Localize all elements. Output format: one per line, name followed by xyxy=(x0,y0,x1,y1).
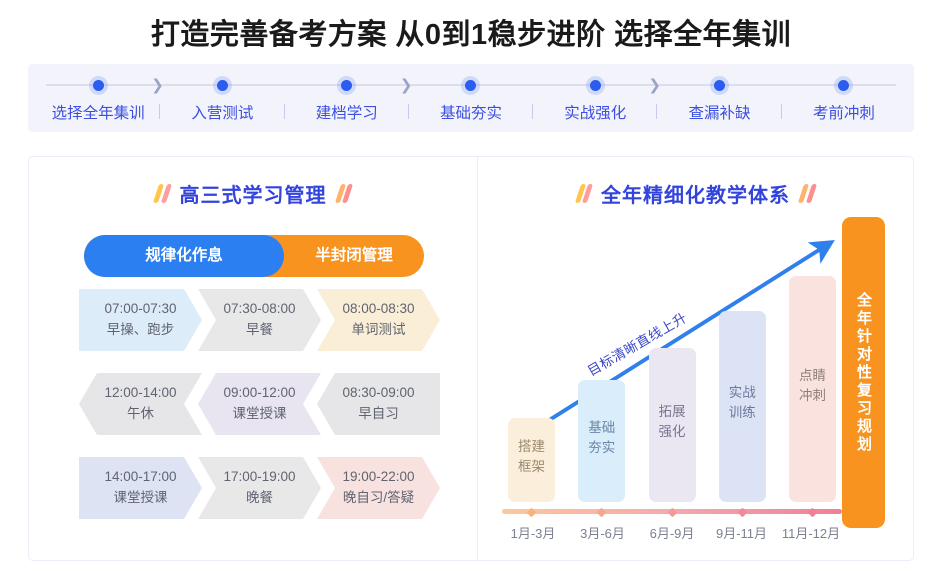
diamond-icon xyxy=(597,508,607,518)
toggle-option-active[interactable]: 规律化作息 xyxy=(84,235,284,277)
schedule-cell: 09:00-12:00课堂授课 xyxy=(198,373,321,435)
chart-bar: 点睛冲刺 xyxy=(789,276,836,502)
page-title-bar: 打造完善备考方案 从0到1稳步进阶 选择全年集训 xyxy=(0,0,942,64)
diamond-icon xyxy=(667,508,677,518)
chart-bars: 搭建框架基础夯实拓展强化实战训练点睛冲刺 xyxy=(508,264,836,502)
stepper-track: ❯❯❯ xyxy=(36,75,906,95)
schedule-cell-time: 07:30-08:00 xyxy=(223,299,295,320)
mode-toggle[interactable]: 规律化作息 半封闭管理 xyxy=(84,235,424,277)
timeline-labels: 1月-3月3月-6月6月-9月9月-11月11月-12月 xyxy=(502,523,842,542)
stepper-dot-6[interactable] xyxy=(657,80,781,91)
schedule-cell-time: 12:00-14:00 xyxy=(104,383,176,404)
left-panel-title-row: 高三式学习管理 xyxy=(29,157,477,208)
schedule-cell-activity: 课堂授课 xyxy=(114,488,168,509)
content-panels: 高三式学习管理 规律化作息 半封闭管理 07:00-07:30早操、跑步07:3… xyxy=(28,156,914,561)
schedule-cell-activity: 午休 xyxy=(127,404,154,425)
schedule-cell-time: 08:00-08:30 xyxy=(342,299,414,320)
schedule-cell: 07:30-08:00早餐 xyxy=(198,289,321,351)
schedule-cell: 19:00-22:00晚自习/答疑 xyxy=(317,457,440,519)
schedule-row: 14:00-17:00课堂授课17:00-19:00晚餐19:00-22:00晚… xyxy=(79,457,437,519)
schedule-cell-time: 14:00-17:00 xyxy=(104,467,176,488)
stepper-dots-row: ❯❯❯ xyxy=(36,75,906,95)
schedule-cell: 08:00-08:30单词测试 xyxy=(317,289,440,351)
chevron-right-icon: ❯ xyxy=(151,78,164,93)
stepper-labels-row: 选择全年集训入营测试建档学习基础夯实实战强化查漏补缺考前冲刺 xyxy=(36,101,906,123)
year-plan-sidebar-label: 全年针对性复习规划 xyxy=(853,292,874,454)
timeline-label: 11月-12月 xyxy=(780,523,842,542)
schedule-cell-time: 17:00-19:00 xyxy=(223,467,295,488)
stepper-dot-5[interactable]: ❯ xyxy=(533,80,657,91)
timeline-marker xyxy=(649,509,696,516)
diamond-icon xyxy=(808,508,818,518)
schedule-cell-time: 08:30-09:00 xyxy=(342,383,414,404)
stepper-label-6[interactable]: 查漏补缺 xyxy=(657,101,781,123)
chart-bar-label: 实战训练 xyxy=(729,383,756,424)
chart-bar-label: 点睛冲刺 xyxy=(799,366,826,407)
timeline-markers xyxy=(508,509,836,516)
stepper-label-1[interactable]: 选择全年集训 xyxy=(36,101,160,123)
schedule-cell: 17:00-19:00晚餐 xyxy=(198,457,321,519)
decor-slashes-right-icon xyxy=(338,184,351,203)
chevron-right-icon: ❯ xyxy=(400,78,413,93)
chart-bar-label: 搭建框架 xyxy=(518,437,545,478)
timeline-marker xyxy=(789,509,836,516)
schedule-cell: 08:30-09:00早自习 xyxy=(317,373,440,435)
right-panel-title-row: 全年精细化教学体系 xyxy=(478,157,913,208)
stepper-dot-icon xyxy=(714,80,725,91)
growth-chart: 目标清晰直线上升 搭建框架基础夯实拓展强化实战训练点睛冲刺 1月-3月3月-6月… xyxy=(478,215,913,560)
chart-bar-label: 基础夯实 xyxy=(588,418,615,459)
schedule-cell-activity: 早餐 xyxy=(246,320,273,341)
stepper-dot-icon xyxy=(341,80,352,91)
timeline-marker xyxy=(719,509,766,516)
promo-page: 打造完善备考方案 从0到1稳步进阶 选择全年集训 ❯❯❯ 选择全年集训入营测试建… xyxy=(0,0,942,571)
schedule-cell-time: 19:00-22:00 xyxy=(342,467,414,488)
timeline-marker xyxy=(578,509,625,516)
schedule-cell-activity: 单词测试 xyxy=(352,320,406,341)
stepper-dot-icon xyxy=(465,80,476,91)
stepper-label-3[interactable]: 建档学习 xyxy=(285,101,409,123)
schedule-cell-activity: 晚餐 xyxy=(246,488,273,509)
stepper-label-7[interactable]: 考前冲刺 xyxy=(782,101,906,123)
stepper-dot-icon xyxy=(838,80,849,91)
schedule-cell: 12:00-14:00午休 xyxy=(79,373,202,435)
schedule-cell-activity: 早操、跑步 xyxy=(107,320,175,341)
stepper-label-2[interactable]: 入营测试 xyxy=(160,101,284,123)
schedule-cell-time: 09:00-12:00 xyxy=(223,383,295,404)
timeline-label: 1月-3月 xyxy=(502,523,564,542)
chart-bar: 搭建框架 xyxy=(508,418,555,502)
stepper-dot-7[interactable] xyxy=(782,80,906,91)
chart-bar-label: 拓展强化 xyxy=(659,402,686,443)
chart-bar: 拓展强化 xyxy=(649,348,696,502)
stepper-dot-2[interactable] xyxy=(160,80,284,91)
schedule-cell: 07:00-07:30早操、跑步 xyxy=(79,289,202,351)
chevron-right-icon: ❯ xyxy=(648,78,661,93)
stepper-dot-3[interactable]: ❯ xyxy=(285,80,409,91)
toggle-option-inactive[interactable]: 半封闭管理 xyxy=(284,235,424,277)
stepper-label-4[interactable]: 基础夯实 xyxy=(409,101,533,123)
chart-inner: 目标清晰直线上升 搭建框架基础夯实拓展强化实战训练点睛冲刺 1月-3月3月-6月… xyxy=(496,215,897,560)
schedule-cell-activity: 早自习 xyxy=(358,404,399,425)
schedule-cell-time: 07:00-07:30 xyxy=(104,299,176,320)
decor-slashes-left2-icon xyxy=(578,184,591,203)
diamond-icon xyxy=(737,508,747,518)
stepper-dot-1[interactable]: ❯ xyxy=(36,80,160,91)
schedule-cell-activity: 晚自习/答疑 xyxy=(343,488,414,509)
year-plan-sidebar: 全年针对性复习规划 xyxy=(842,217,885,528)
progress-stepper: ❯❯❯ 选择全年集训入营测试建档学习基础夯实实战强化查漏补缺考前冲刺 xyxy=(28,64,914,132)
stepper-dot-icon xyxy=(590,80,601,91)
decor-slashes-right2-icon xyxy=(801,184,814,203)
timeline-label: 9月-11月 xyxy=(711,523,773,542)
page-title: 打造完善备考方案 从0到1稳步进阶 选择全年集训 xyxy=(151,11,791,53)
schedule-row: 12:00-14:00午休09:00-12:00课堂授课08:30-09:00早… xyxy=(79,373,437,435)
schedule-grid: 07:00-07:30早操、跑步07:30-08:00早餐08:00-08:30… xyxy=(79,289,437,519)
stepper-dot-icon xyxy=(217,80,228,91)
schedule-cell: 14:00-17:00课堂授课 xyxy=(79,457,202,519)
timeline-label: 6月-9月 xyxy=(641,523,703,542)
decor-slashes-left-icon xyxy=(156,184,169,203)
chart-bar: 实战训练 xyxy=(719,311,766,502)
stepper-label-5[interactable]: 实战强化 xyxy=(533,101,657,123)
stepper-dot-4[interactable] xyxy=(409,80,533,91)
right-panel: 全年精细化教学体系 目标清晰直线上升 xyxy=(478,157,913,560)
timeline-marker xyxy=(508,509,555,516)
schedule-cell-activity: 课堂授课 xyxy=(233,404,287,425)
stepper-dot-icon xyxy=(93,80,104,91)
left-panel: 高三式学习管理 规律化作息 半封闭管理 07:00-07:30早操、跑步07:3… xyxy=(29,157,478,560)
schedule-row: 07:00-07:30早操、跑步07:30-08:00早餐08:00-08:30… xyxy=(79,289,437,351)
diamond-icon xyxy=(527,508,537,518)
left-panel-title: 高三式学习管理 xyxy=(180,179,327,208)
timeline-label: 3月-6月 xyxy=(572,523,634,542)
chart-bar: 基础夯实 xyxy=(578,380,625,502)
right-panel-title: 全年精细化教学体系 xyxy=(601,179,790,208)
